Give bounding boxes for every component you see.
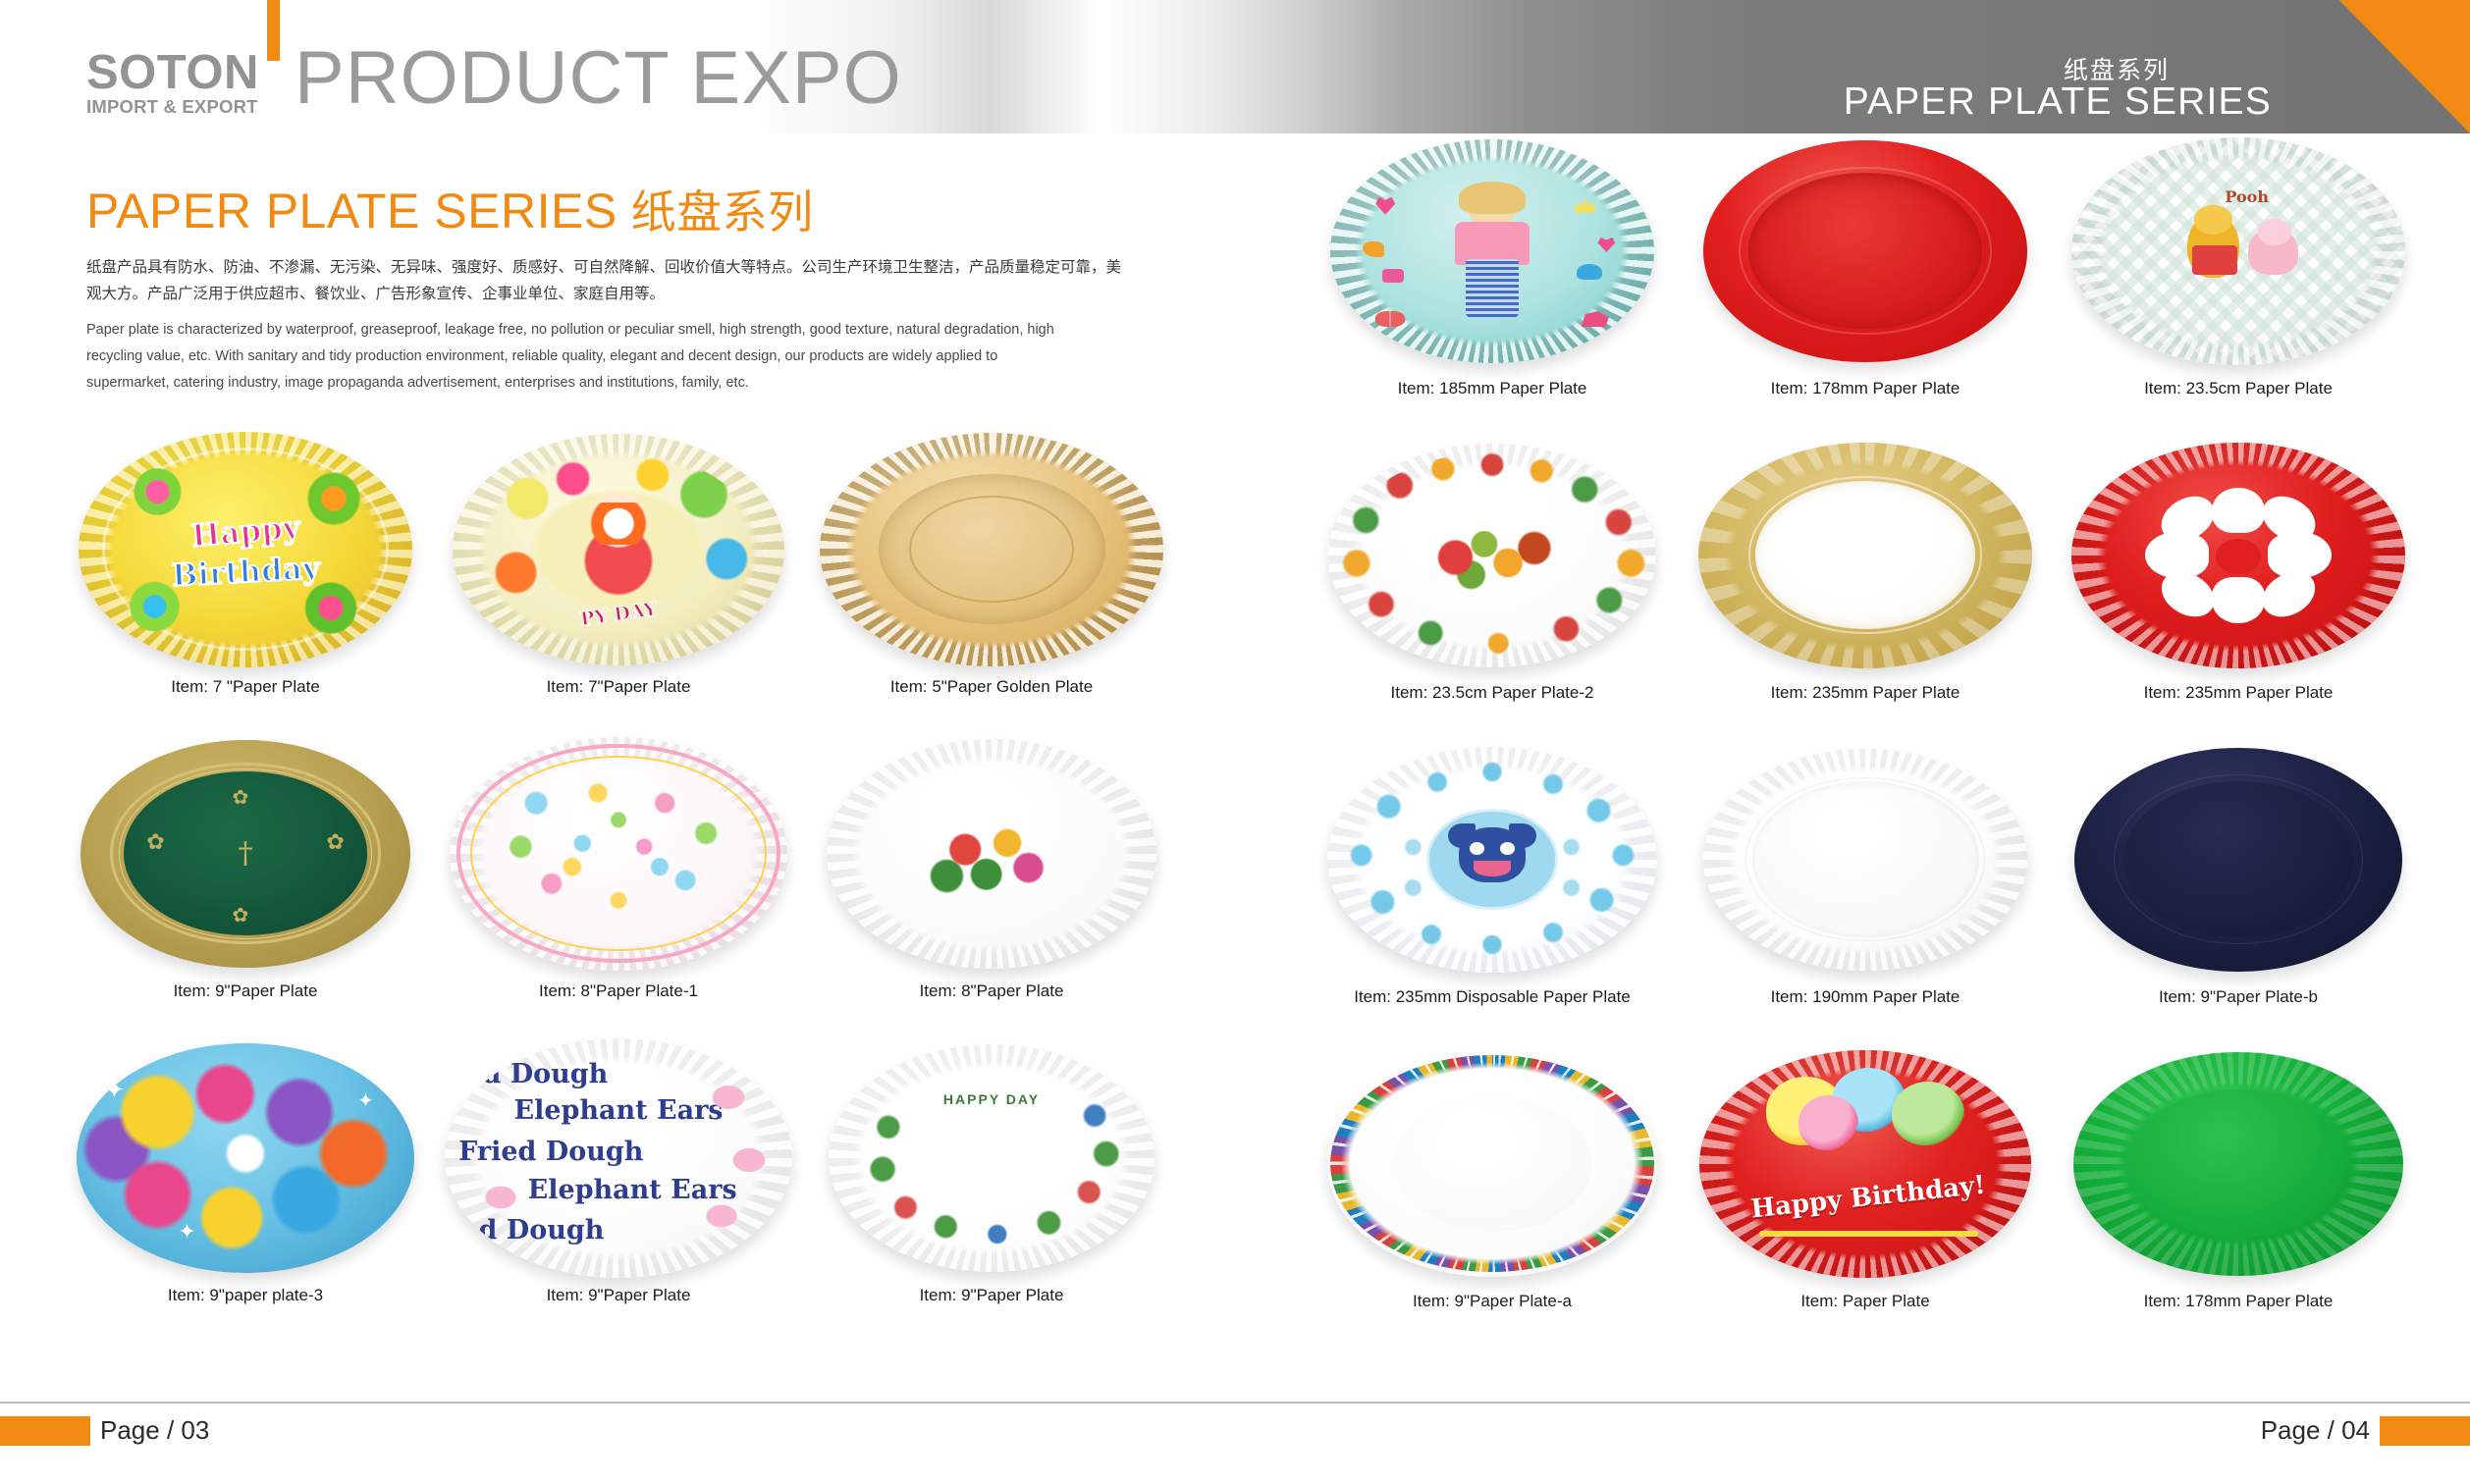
logo-wordmark: SOTON (86, 51, 259, 94)
product-caption: Item: 9"Paper Plate-b (2052, 987, 2425, 1007)
product-cell[interactable]: Happy Birthday! Item: Paper Plate (1679, 1038, 2052, 1343)
product-cell[interactable]: PY DAY Item: 7"Paper Plate (432, 424, 805, 728)
product-row: † ✿ ✿ ✿ ✿ Item: 9"Paper Plate (59, 728, 1178, 1033)
plate-art-text: Pooh (2225, 187, 2269, 206)
product-caption: Item: 9"Paper Plate-a (1306, 1292, 1679, 1311)
product-cell[interactable]: Item: 190mm Paper Plate (1679, 734, 2052, 1038)
product-image: Happy Birthday (59, 424, 432, 674)
product-image (1679, 126, 2052, 376)
product-image (805, 424, 1178, 674)
product-row: Item: 9"Paper Plate-a Happy Birthday! (1306, 1038, 2425, 1343)
page-footer: Page / 03 Page / 04 (0, 1402, 2470, 1484)
product-caption: Item: 9"Paper Plate (432, 1286, 805, 1305)
product-caption: Item: 7 "Paper Plate (59, 677, 432, 697)
page-title-en: PAPER PLATE SERIES (86, 184, 617, 238)
page-header: SOTON IMPORT & EXPORT PRODUCT EXPO 纸盘系列 … (0, 0, 2470, 137)
product-image (1679, 430, 2052, 680)
product-cell[interactable]: Pooh Item: 23.5cm Paper Plate (2052, 126, 2425, 430)
product-image: ✦ ✦ ✦ (59, 1033, 432, 1283)
product-cell[interactable]: † ✿ ✿ ✿ ✿ Item: 9"Paper Plate (59, 728, 432, 1033)
footer-accent-block-right (2380, 1416, 2470, 1446)
product-caption: Item: 23.5cm Paper Plate (2052, 379, 2425, 398)
product-caption: Item: 190mm Paper Plate (1679, 987, 2052, 1007)
product-image: PY DAY (432, 424, 805, 674)
product-cell[interactable]: Item: 178mm Paper Plate (2052, 1038, 2425, 1343)
product-image (2052, 430, 2425, 680)
logo-accent-bar (267, 0, 280, 61)
product-cell[interactable]: Item: 9"Paper Plate-a (1306, 1038, 1679, 1343)
product-caption: Item: 23.5cm Paper Plate-2 (1306, 683, 1679, 703)
intro-description-en: Paper plate is characterized by waterpro… (86, 317, 1078, 397)
product-image (805, 728, 1178, 979)
brand-logo: SOTON IMPORT & EXPORT (86, 51, 259, 118)
product-cell[interactable]: Item: 8"Paper Plate-1 (432, 728, 805, 1033)
product-cell[interactable]: Item: 185mm Paper Plate (1306, 126, 1679, 430)
product-caption: Item: Paper Plate (1679, 1292, 2052, 1311)
product-image (1679, 734, 2052, 984)
product-image: Happy Birthday! (1679, 1038, 2052, 1289)
product-cell[interactable]: Item: 23.5cm Paper Plate-2 (1306, 430, 1679, 734)
left-page-product-grid: Happy Birthday Item: 7 "Paper Plate (59, 424, 1178, 1337)
product-cell[interactable]: Item: 235mm Disposable Paper Plate (1306, 734, 1679, 1038)
right-page-product-grid: Item: 185mm Paper Plate Item: 178mm Pape… (1306, 126, 2425, 1343)
product-cell[interactable]: Item: 8"Paper Plate (805, 728, 1178, 1033)
product-caption: Item: 178mm Paper Plate (2052, 1292, 2425, 1311)
page-number-left: Page / 03 (90, 1415, 219, 1446)
page-title: PAPER PLATE SERIES纸盘系列 (86, 183, 1176, 240)
product-image: HAPPY DAY (805, 1033, 1178, 1283)
product-cell[interactable]: ✦ ✦ ✦ Item: 9"paper plate-3 (59, 1033, 432, 1337)
product-caption: Item: 235mm Disposable Paper Plate (1306, 987, 1679, 1007)
product-caption: Item: 8"Paper Plate-1 (432, 981, 805, 1001)
product-row: Item: 23.5cm Paper Plate-2 Item: 235mm P… (1306, 430, 2425, 734)
page-number-right: Page / 04 (2251, 1415, 2380, 1446)
product-cell[interactable]: Item: 235mm Paper Plate (1679, 430, 2052, 734)
product-cell[interactable]: Item: 178mm Paper Plate (1679, 126, 2052, 430)
footer-right: Page / 04 (2251, 1415, 2470, 1446)
product-cell[interactable]: Item: 235mm Paper Plate (2052, 430, 2425, 734)
product-caption: Item: 7"Paper Plate (432, 677, 805, 697)
product-cell[interactable]: ed Dough Elephant Ears Fried Dough Eleph… (432, 1033, 805, 1337)
product-image (1306, 430, 1679, 680)
intro-section: PAPER PLATE SERIES纸盘系列 纸盘产品具有防水、防油、不渗漏、无… (86, 183, 1176, 397)
product-cell[interactable]: Item: 9"Paper Plate-b (2052, 734, 2425, 1038)
product-caption: Item: 9"paper plate-3 (59, 1286, 432, 1305)
product-caption: Item: 8"Paper Plate (805, 981, 1178, 1001)
product-cell[interactable]: Item: 5"Paper Golden Plate (805, 424, 1178, 728)
logo-tagline: IMPORT & EXPORT (86, 96, 259, 118)
product-row: Item: 235mm Disposable Paper Plate Item:… (1306, 734, 2425, 1038)
product-caption: Item: 178mm Paper Plate (1679, 379, 2052, 398)
footer-accent-block-left (0, 1416, 90, 1446)
product-caption: Item: 235mm Paper Plate (1679, 683, 2052, 703)
product-image: † ✿ ✿ ✿ ✿ (59, 728, 432, 979)
product-image (432, 728, 805, 979)
product-image (1306, 126, 1679, 376)
product-caption: Item: 9"Paper Plate (59, 981, 432, 1001)
product-caption: Item: 185mm Paper Plate (1306, 379, 1679, 398)
product-row: Happy Birthday Item: 7 "Paper Plate (59, 424, 1178, 728)
product-image (2052, 734, 2425, 984)
plate-art-text: Happy Birthday! (1749, 1171, 1987, 1225)
footer-divider (0, 1402, 2470, 1404)
product-row: ✦ ✦ ✦ Item: 9"paper plate-3 ed Dough Ele… (59, 1033, 1178, 1337)
catalog-page: SOTON IMPORT & EXPORT PRODUCT EXPO 纸盘系列 … (0, 0, 2470, 1484)
header-main-title: PRODUCT EXPO (295, 41, 902, 116)
product-caption: Item: 5"Paper Golden Plate (805, 677, 1178, 697)
footer-left: Page / 03 (0, 1415, 219, 1446)
product-cell[interactable]: HAPPY DAY Item: 9"Paper Plate (805, 1033, 1178, 1337)
product-image (1306, 734, 1679, 984)
product-image: Pooh (2052, 126, 2425, 376)
product-caption: Item: 9"Paper Plate (805, 1286, 1178, 1305)
product-cell[interactable]: Happy Birthday Item: 7 "Paper Plate (59, 424, 432, 728)
intro-description-cn: 纸盘产品具有防水、防油、不渗漏、无污染、无异味、强度好、质感好、可自然降解、回收… (86, 254, 1127, 307)
product-row: Item: 185mm Paper Plate Item: 178mm Pape… (1306, 126, 2425, 430)
page-title-cn: 纸盘系列 (631, 186, 814, 238)
header-series-label-en: PAPER PLATE SERIES (1844, 80, 2272, 124)
product-image: ed Dough Elephant Ears Fried Dough Eleph… (432, 1033, 805, 1283)
product-image (2052, 1038, 2425, 1289)
product-image (1306, 1038, 1679, 1289)
product-caption: Item: 235mm Paper Plate (2052, 683, 2425, 703)
